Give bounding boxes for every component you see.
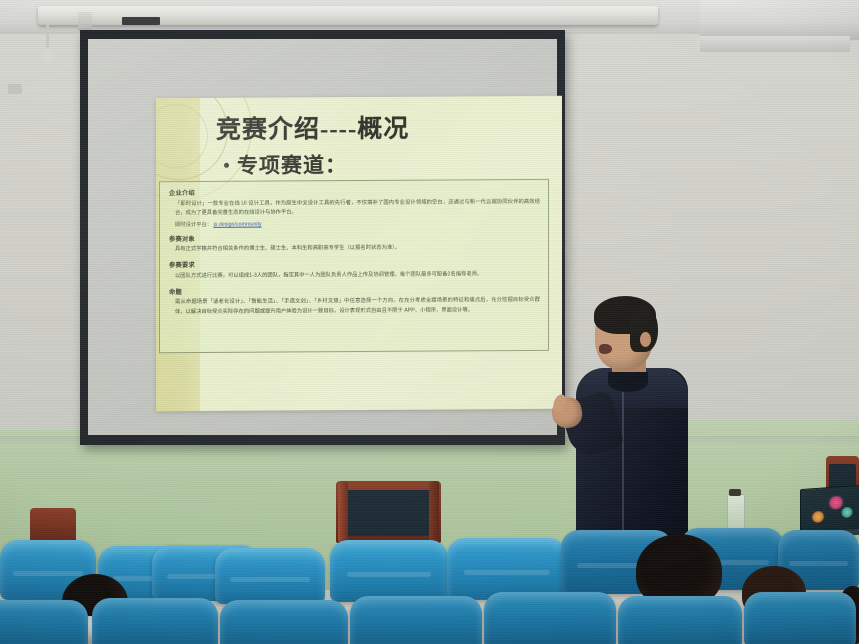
section-body: 具有正式学籍并符合相关条件的博士生、硕士生、本科生和高职高专学生（以报名时状态为… [169,243,540,254]
section-heading: 参赛要求 [169,258,540,269]
auditorium-seat [447,538,567,600]
auditorium-seat [350,596,482,644]
water-bottle [727,494,745,532]
auditorium-seat [744,592,856,644]
wood-chair [336,481,441,543]
slide-content-box: 企业介绍 「即时设计」一款专业在线 UI 设计工具，作为原生中文设计工具的先行者… [159,179,549,353]
auditorium-seat [220,600,348,644]
presenter-ear [640,332,651,347]
laptop-sticker [811,510,825,523]
auditorium-seat [92,598,218,644]
bottle-cap [729,489,741,496]
auditorium-seat [618,596,742,644]
wall-plate [8,84,22,94]
section-body: 需从命题场景「适老化设计」、「智能生活」、「手造文创」、「乡村文旅」中任意选择一… [169,296,540,316]
slide-bullet-label: 专项赛道： [237,149,347,180]
wood-chair-post [338,481,347,543]
section-heading: 参赛对象 [169,232,540,243]
laptop-sticker [841,506,853,518]
auditorium-seat [330,540,448,602]
slide-bullet: 专项赛道： [224,149,347,180]
projection-screen-surface: 竞赛介绍----概况 专项赛道： 企业介绍 「即时设计」一款专业在线 UI 设计… [88,39,557,435]
section-body: 以团队方式进行比赛，可以组成1-3人的团队，指定其中一人为团队负责人作品上传及协… [169,270,540,281]
slide-section: 参赛要求 以团队方式进行比赛，可以组成1-3人的团队，指定其中一人为团队负责人作… [169,258,540,281]
auditorium-seat [215,548,325,604]
slide-section: 企业介绍 「即时设计」一款专业在线 UI 设计工具，作为原生中文设计工具的先行者… [169,186,540,228]
projector-mount-bracket [700,36,850,52]
platform-link[interactable]: js.design/community [214,221,262,227]
slide-section: 命题 需从命题场景「适老化设计」、「智能生活」、「手造文创」、「乡村文旅」中任意… [169,285,540,317]
roller-pull-knob [43,48,52,62]
lecture-hall-photo: 竞赛介绍----概况 专项赛道： 企业介绍 「即时设计」一款专业在线 UI 设计… [0,0,859,644]
section-heading: 命题 [169,285,540,296]
presenter-jacket-zip [622,392,624,542]
ceiling-projector-icon [700,0,859,40]
presenter-collar [608,372,648,392]
auditorium-seat [0,600,88,644]
slide-section: 参赛对象 具有正式学籍并符合相关条件的博士生、硕士生、本科生和高职高专学生（以报… [169,232,540,255]
section-sub-line: 即时设计平台： js.design/community [169,218,540,228]
section-heading: 企业介绍 [169,186,540,197]
slide-title: 竞赛介绍----概况 [216,109,409,146]
auditorium-seat [484,592,616,644]
section-body: 「即时设计」一款专业在线 UI 设计工具，作为原生中文设计工具的先行者，不仅填补… [169,197,540,217]
wood-chair-cushion [347,490,431,536]
presentation-slide: 竞赛介绍----概况 专项赛道： 企业介绍 「即时设计」一款专业在线 UI 设计… [156,96,562,411]
roller-end-cap [78,12,92,31]
platform-label: 即时设计平台： [175,222,212,228]
projection-screen: 竞赛介绍----概况 专项赛道： 企业介绍 「即时设计」一款专业在线 UI 设计… [80,30,565,445]
presenter-mouth [599,344,612,354]
wood-chair-post [429,481,438,543]
presenter [560,300,700,560]
screen-roller-housing [38,6,658,25]
roller-label-plate [122,17,160,25]
bullet-dot-icon [224,162,229,167]
